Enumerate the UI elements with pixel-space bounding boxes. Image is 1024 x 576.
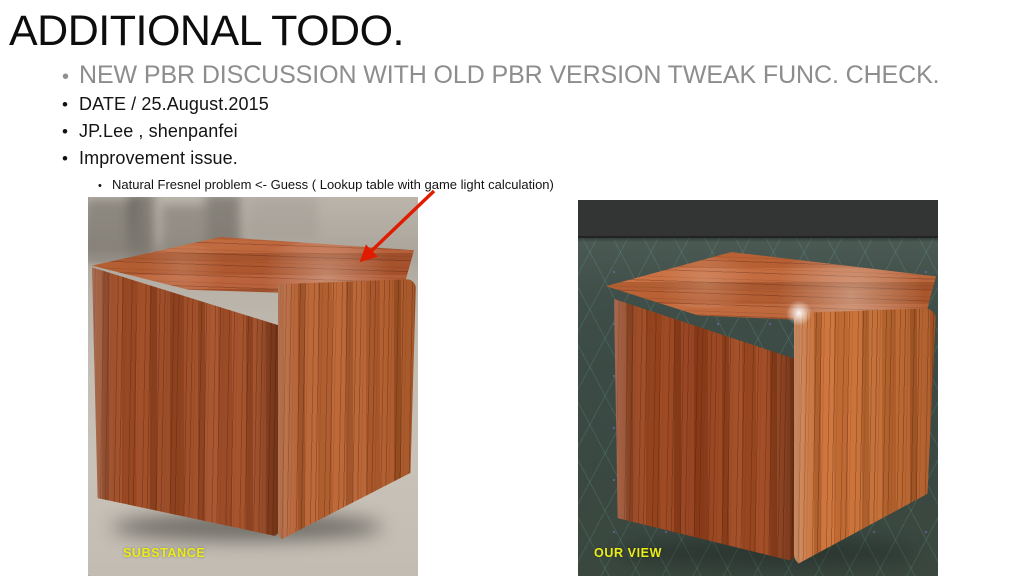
cube-face-left xyxy=(614,288,796,562)
render-image-ourview: OUR VIEW xyxy=(578,200,938,576)
bullet-dot-icon: • xyxy=(62,66,79,89)
wood-grain xyxy=(794,308,936,566)
render-caption-substance: SUBSTANCE xyxy=(123,546,205,560)
bullet-text: DATE / 25.August.2015 xyxy=(79,92,269,117)
wood-cube xyxy=(606,252,936,562)
viewport-horizon-line xyxy=(578,236,938,242)
wood-grain xyxy=(614,288,796,562)
bullet-text: Improvement issue. xyxy=(79,146,238,171)
wood-grain xyxy=(278,279,416,541)
bullet-dot-icon: • xyxy=(62,149,79,169)
bullet-text: JP.Lee , shenpanfei xyxy=(79,119,238,144)
bullet-dot-icon: • xyxy=(98,180,112,192)
bullet-dot-icon: • xyxy=(62,122,79,142)
render-caption-ourview: OUR VIEW xyxy=(594,546,662,560)
cube-face-left xyxy=(92,259,280,537)
list-item: • Natural Fresnel problem <- Guess ( Loo… xyxy=(0,175,1024,197)
bullet-text: NEW PBR DISCUSSION WITH OLD PBR VERSION … xyxy=(79,60,940,90)
bullet-dot-icon: • xyxy=(62,95,79,115)
list-item: • JP.Lee , shenpanfei xyxy=(0,119,1024,146)
cube-face-right xyxy=(278,279,416,541)
list-item: • DATE / 25.August.2015 xyxy=(0,92,1024,119)
wood-grain xyxy=(92,259,280,537)
cube-face-right xyxy=(794,308,936,566)
bullet-list: • NEW PBR DISCUSSION WITH OLD PBR VERSIO… xyxy=(0,60,1024,197)
list-item: • Improvement issue. xyxy=(0,146,1024,173)
list-item: • NEW PBR DISCUSSION WITH OLD PBR VERSIO… xyxy=(0,60,1024,92)
background-blur-shape xyxy=(248,197,318,239)
bullet-text: Natural Fresnel problem <- Guess ( Looku… xyxy=(112,175,554,194)
render-image-substance: SUBSTANCE xyxy=(88,197,418,576)
page-title: ADDITIONAL TODO. xyxy=(9,6,404,56)
wood-cube xyxy=(92,237,414,537)
